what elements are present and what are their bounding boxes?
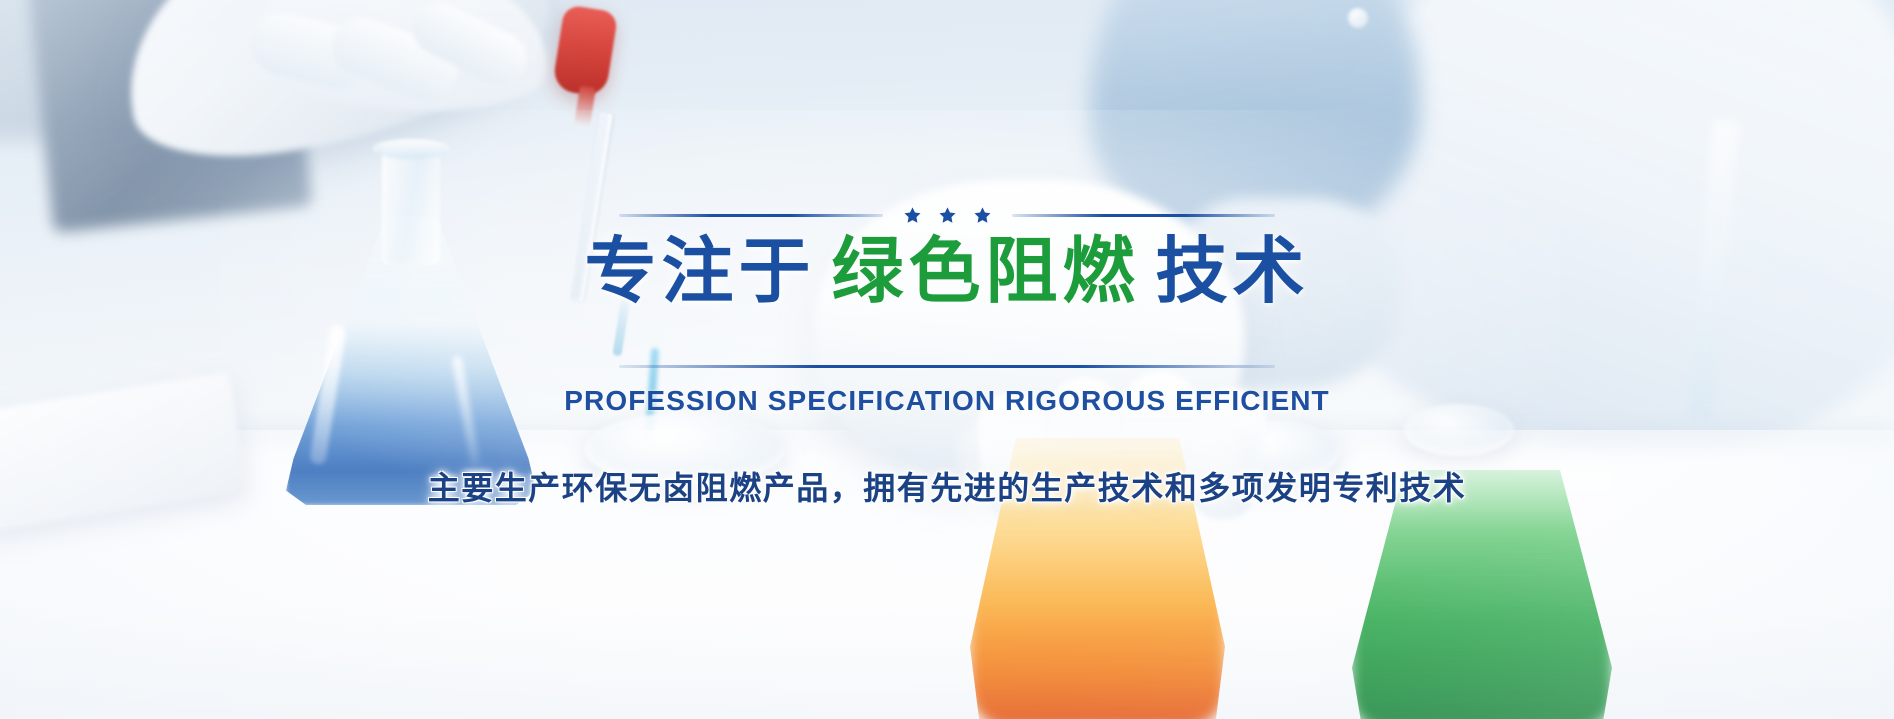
star-icon bbox=[973, 206, 992, 225]
star-group bbox=[883, 206, 1012, 225]
star-icon bbox=[938, 206, 957, 225]
headline-part-2: 绿色阻燃 bbox=[831, 232, 1139, 312]
headline-part-1: 专注于 bbox=[584, 232, 815, 312]
headline-part-3: 技术 bbox=[1156, 232, 1310, 312]
banner-tagline: 主要生产环保无卤阻燃产品，拥有先进的生产技术和多项发明专利技术 bbox=[428, 463, 1467, 509]
page-title: 专注于绿色阻燃技术 bbox=[584, 232, 1309, 313]
rule-right bbox=[1012, 214, 1276, 217]
decorative-rule-row bbox=[619, 204, 1275, 226]
english-subtitle: PROFESSION SPECIFICATION RIGOROUS EFFICI… bbox=[564, 385, 1330, 417]
headline-underline bbox=[619, 365, 1275, 368]
hero-banner: 专注于绿色阻燃技术 PROFESSION SPECIFICATION RIGOR… bbox=[0, 0, 1894, 719]
banner-content: 专注于绿色阻燃技术 PROFESSION SPECIFICATION RIGOR… bbox=[0, 0, 1894, 509]
star-icon bbox=[903, 206, 922, 225]
rule-left bbox=[619, 214, 883, 217]
